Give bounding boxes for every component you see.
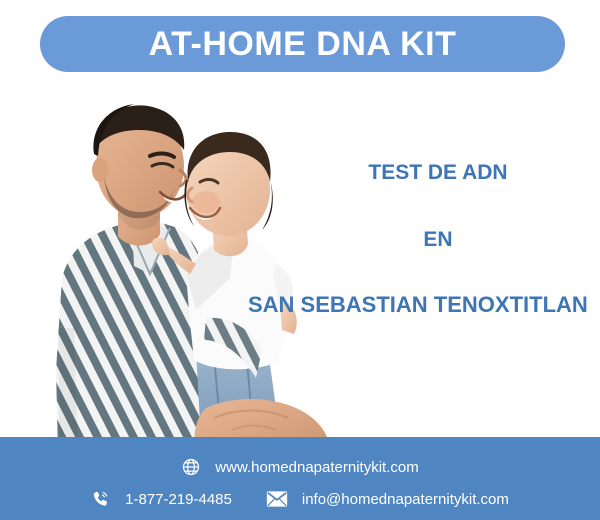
page-title: AT-HOME DNA KIT	[149, 27, 457, 61]
headline-line-test-de-adn: TEST DE ADN	[248, 162, 600, 183]
website-text[interactable]: www.homednapaternitykit.com	[215, 459, 418, 476]
headline-line-location: SAN SEBASTIAN TENOXTITLAN	[248, 294, 600, 316]
headline-line-en: EN	[248, 229, 600, 250]
envelope-icon	[266, 490, 288, 508]
headline-block: TEST DE ADN EN SAN SEBASTIAN TENOXTITLAN	[248, 162, 600, 316]
footer-contact-row: 1-877-219-4485 info@homednapaternitykit.…	[0, 489, 600, 509]
footer-website-row: www.homednapaternitykit.com	[0, 457, 600, 477]
phone-text[interactable]: 1-877-219-4485	[125, 491, 232, 508]
globe-icon	[181, 457, 201, 477]
header-banner: AT-HOME DNA KIT	[40, 16, 565, 72]
dna-kit-promo-graphic: AT-HOME DNA KIT TEST DE ADN EN SAN SEBAS…	[0, 0, 600, 520]
footer-bar: www.homednapaternitykit.com 1-877-219-44…	[0, 437, 600, 520]
email-text[interactable]: info@homednapaternitykit.com	[302, 491, 509, 508]
phone-icon	[91, 489, 111, 509]
